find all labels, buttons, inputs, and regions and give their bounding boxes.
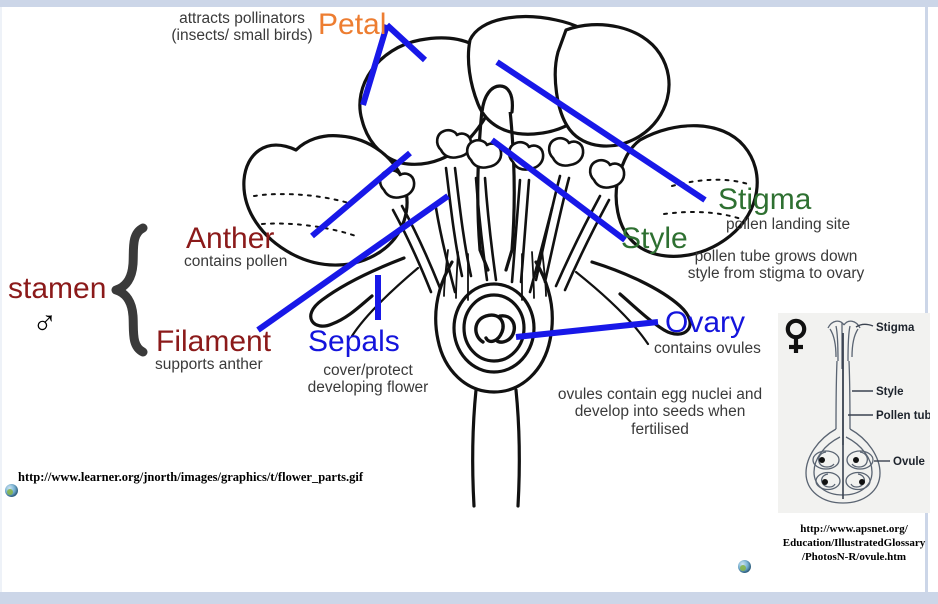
ovules-note: ovules contain egg nuclei and develop in… (548, 386, 772, 438)
globe-icon-secondary (738, 560, 751, 573)
label-ovary-desc: contains ovules (654, 340, 761, 357)
slide-frame-bottom-band (0, 592, 938, 604)
label-style-desc-line1: pollen tube grows down (664, 248, 888, 265)
label-filament: Filament (156, 325, 271, 359)
slide-canvas: attracts pollinators (insects/ small bir… (0, 0, 938, 604)
ovule-source-line3: /PhotosN-R/ovule.htm (772, 550, 936, 564)
inset-label-ovule: Ovule (893, 456, 925, 468)
inset-label-pollen-tube: Pollen tube (876, 410, 930, 422)
ovules-note-line2: develop into seeds when (548, 403, 772, 420)
label-style-desc-line2: style from stigma to ovary (664, 265, 888, 282)
ovules-note-line1: ovules contain egg nuclei and (548, 386, 772, 403)
inset-label-style: Style (876, 386, 904, 398)
globe-icon (5, 484, 18, 497)
ovules-note-line3: fertilised (548, 421, 772, 438)
leader-line-stigma (497, 62, 705, 200)
slide-frame-left-rule (0, 7, 2, 592)
flower-line-drawing (0, 0, 938, 604)
leader-line-anther (312, 153, 410, 236)
leader-lines (0, 0, 938, 604)
label-sepals-desc-line2: developing flower (290, 379, 446, 396)
inset-label-stigma: Stigma (876, 322, 915, 334)
leader-line-style (492, 140, 625, 240)
label-anther-desc: contains pollen (184, 253, 287, 270)
label-stigma: Stigma (718, 183, 811, 217)
ovule-inset-drawing: Stigma Style Pollen tube Ovule (778, 313, 930, 513)
ovule-source-line2: Education/IllustratedGlossary (772, 536, 936, 550)
label-ovary: Ovary (665, 306, 745, 340)
slide-frame-top-band (0, 0, 938, 7)
label-sepals-desc: cover/protect developing flower (290, 362, 446, 397)
label-petal: Petal (318, 8, 386, 42)
pollinators-note-line1: attracts pollinators (152, 10, 332, 27)
leader-line-petal-b (387, 25, 425, 60)
label-filament-desc: supports anther (155, 356, 263, 373)
pollinators-note: attracts pollinators (insects/ small bir… (152, 10, 332, 45)
flower-source-citation: http://www.learner.org/jnorth/images/gra… (18, 470, 363, 485)
male-symbol-icon: ♂ (32, 305, 58, 339)
stamen-grouping-brace (0, 0, 938, 604)
label-stigma-desc: pollen landing site (726, 216, 850, 233)
label-stamen: stamen (8, 272, 106, 306)
ovule-source-line1: http://www.apsnet.org/ (772, 522, 936, 536)
label-anther: Anther (186, 222, 274, 256)
label-sepals: Sepals (308, 325, 400, 359)
leader-line-ovary (516, 322, 658, 337)
ovule-source-citation: http://www.apsnet.org/ Education/Illustr… (772, 522, 936, 564)
label-style-desc: pollen tube grows down style from stigma… (664, 248, 888, 283)
pollinators-note-line2: (insects/ small birds) (152, 27, 332, 44)
ovule-inset-panel: Stigma Style Pollen tube Ovule (778, 313, 930, 513)
label-sepals-desc-line1: cover/protect (290, 362, 446, 379)
